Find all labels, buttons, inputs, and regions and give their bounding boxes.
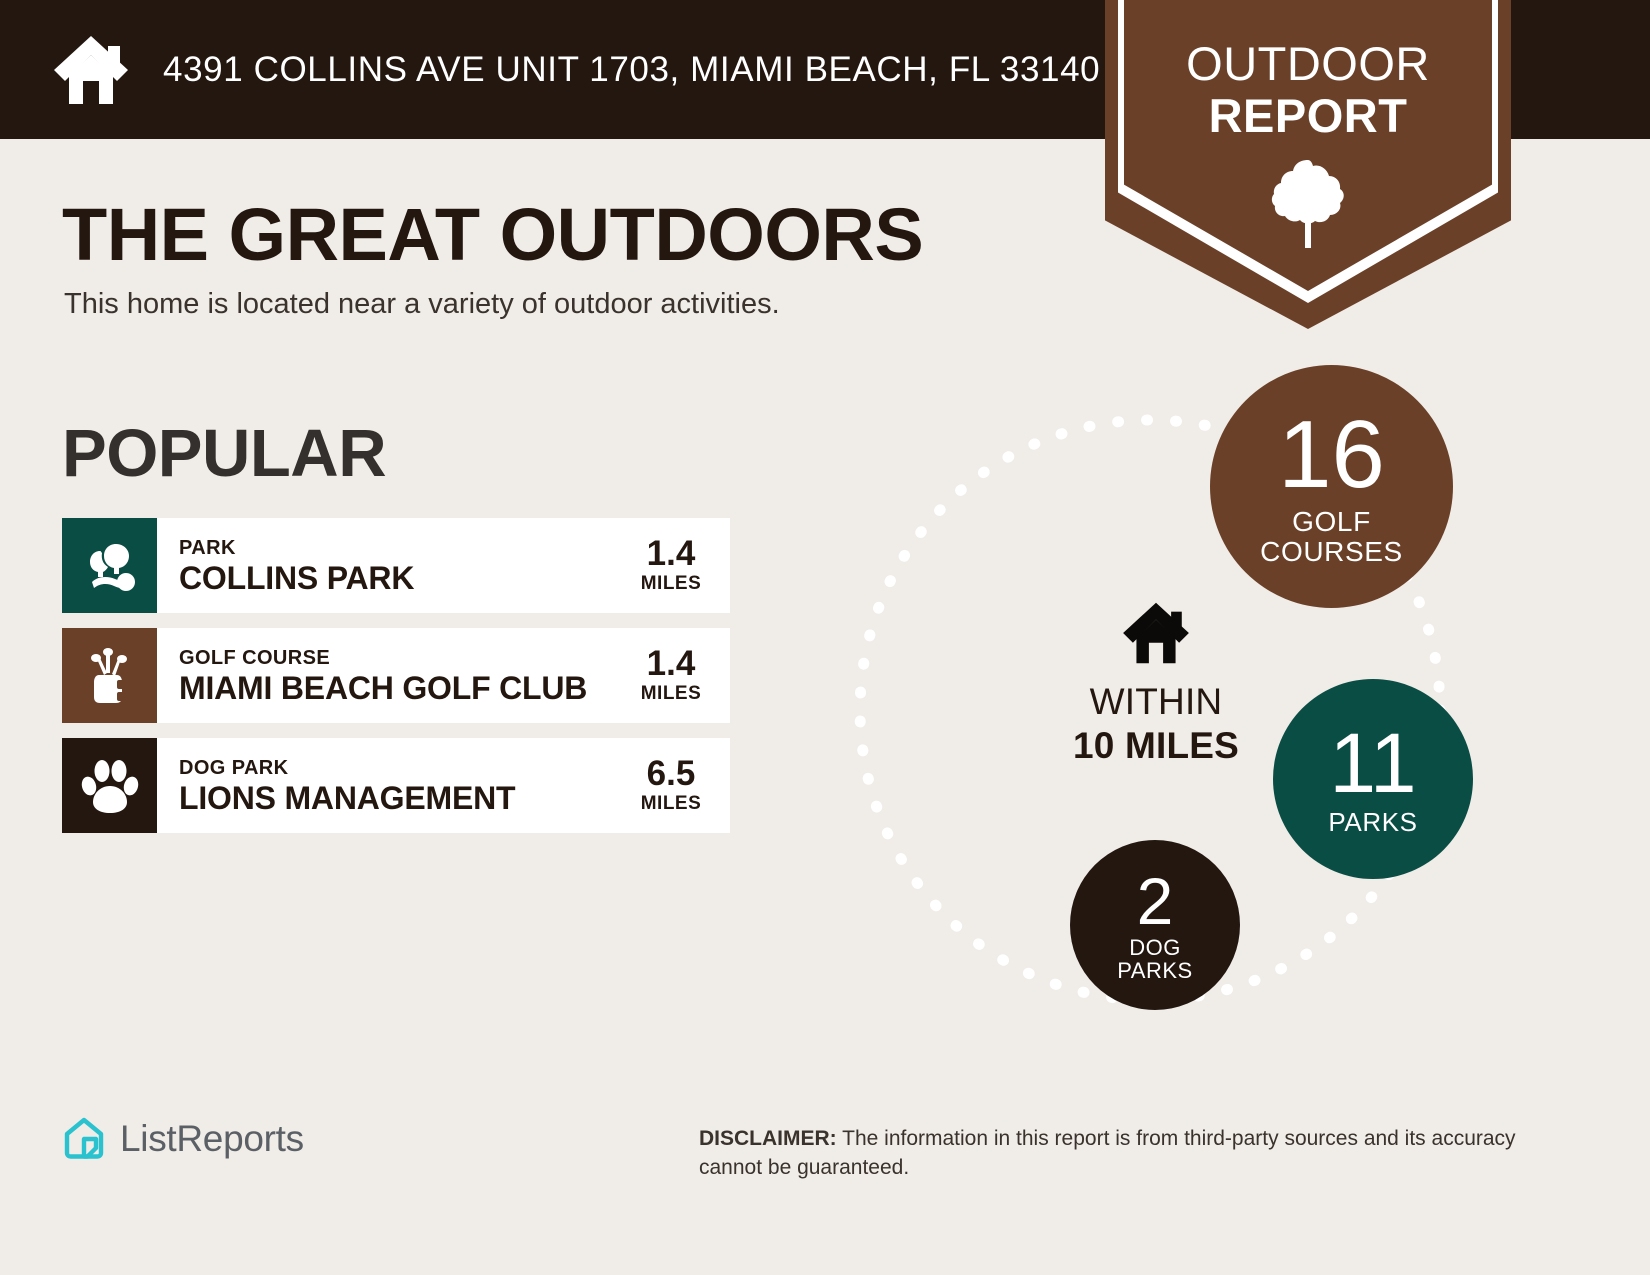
stat-bubble-dog-parks[interactable]: 2 DOG PARKS (1070, 840, 1240, 1010)
proximity-diagram: 16 GOLF COURSES 11 PARKS 2 DOG PARKS WIT… (830, 345, 1530, 1065)
list-item-type: PARK (179, 536, 622, 560)
stat-count: 2 (1137, 868, 1174, 934)
disclaimer-label: DISCLAIMER: (699, 1127, 837, 1150)
diagram-center: WITHIN 10 MILES (1026, 601, 1286, 768)
property-address: 4391 COLLINS AVE UNIT 1703, MIAMI BEACH,… (163, 50, 1100, 90)
stat-bubble-parks[interactable]: 11 PARKS (1273, 679, 1473, 879)
distance-unit: MILES (641, 572, 702, 596)
list-item-distance: 1.4 MILES (622, 518, 730, 613)
stat-count: 11 (1329, 721, 1416, 805)
list-item-name: COLLINS PARK (179, 560, 622, 596)
stat-label-line1: GOLF (1292, 507, 1371, 536)
list-item-name: LIONS MANAGEMENT (179, 780, 622, 816)
list-item[interactable]: PARK COLLINS PARK 1.4 MILES (62, 518, 730, 613)
house-icon (1121, 601, 1191, 665)
distance-value: 6.5 (647, 756, 696, 792)
list-item-type: GOLF COURSE (179, 646, 622, 670)
stat-label-line2: COURSES (1260, 537, 1403, 566)
golf-icon-tile (62, 628, 157, 723)
house-icon (52, 34, 130, 106)
list-item-text: GOLF COURSE MIAMI BEACH GOLF CLUB (157, 628, 622, 723)
popular-heading: POPULAR (62, 415, 386, 492)
badge-line-outdoor: OUTDOOR (1105, 38, 1511, 90)
list-item[interactable]: GOLF COURSE MIAMI BEACH GOLF CLUB 1.4 MI… (62, 628, 730, 723)
stat-label-line2: PARKS (1117, 959, 1192, 982)
dogpark-icon-tile (62, 738, 157, 833)
badge-line-report: REPORT (1105, 90, 1511, 142)
park-tree-icon (82, 538, 138, 594)
diagram-center-line1: WITHIN (1026, 680, 1286, 724)
golf-bag-icon (83, 647, 137, 705)
disclaimer: DISCLAIMER: The information in this repo… (699, 1124, 1529, 1182)
page-subtitle: This home is located near a variety of o… (64, 288, 780, 321)
logo-text: ListReports (120, 1118, 304, 1160)
distance-value: 1.4 (647, 536, 696, 572)
distance-value: 1.4 (647, 646, 696, 682)
list-item-text: DOG PARK LIONS MANAGEMENT (157, 738, 622, 833)
distance-unit: MILES (641, 682, 702, 706)
popular-list: PARK COLLINS PARK 1.4 MILES GOLF COURSE (62, 518, 730, 848)
list-item-text: PARK COLLINS PARK (157, 518, 622, 613)
stat-label-line1: DOG (1129, 936, 1181, 959)
stat-count: 16 (1278, 407, 1385, 503)
paw-print-icon (81, 758, 139, 814)
list-item-type: DOG PARK (179, 756, 622, 780)
stat-bubble-golf-courses[interactable]: 16 GOLF COURSES (1210, 365, 1453, 608)
tree-icon (1269, 158, 1347, 250)
badge-tree-wrap (1105, 158, 1511, 255)
page-title: THE GREAT OUTDOORS (62, 192, 923, 277)
list-item[interactable]: DOG PARK LIONS MANAGEMENT 6.5 MILES (62, 738, 730, 833)
list-item-distance: 1.4 MILES (622, 628, 730, 723)
list-item-name: MIAMI BEACH GOLF CLUB (179, 670, 622, 706)
listreports-logo[interactable]: ListReports (62, 1115, 304, 1163)
stat-label-line1: PARKS (1328, 809, 1417, 836)
park-icon-tile (62, 518, 157, 613)
list-item-distance: 6.5 MILES (622, 738, 730, 833)
badge-text-group: OUTDOOR REPORT (1105, 38, 1511, 142)
distance-unit: MILES (641, 792, 702, 816)
listreports-house-icon (62, 1115, 106, 1163)
diagram-center-line2: 10 MILES (1026, 724, 1286, 768)
